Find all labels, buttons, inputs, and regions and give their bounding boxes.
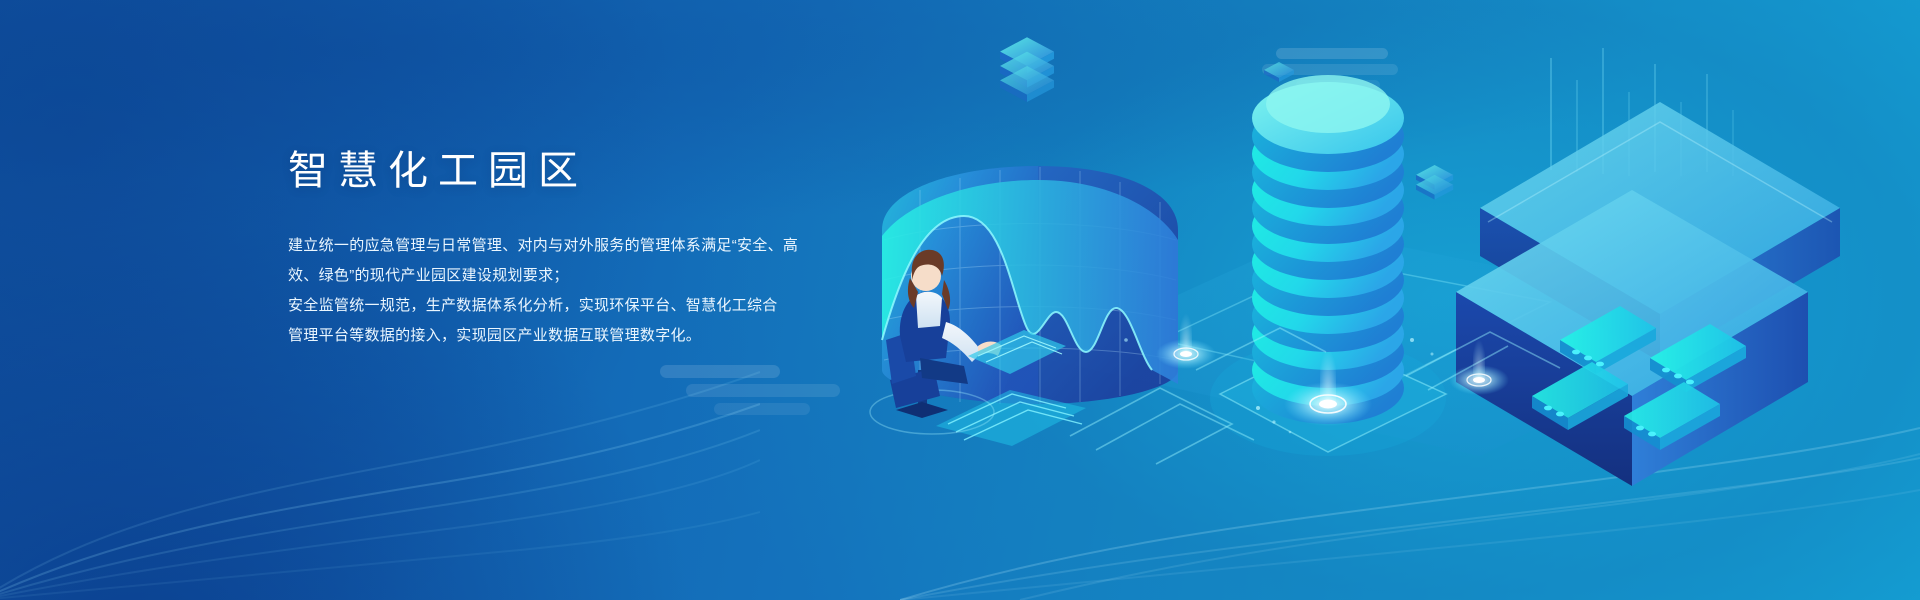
description-line-1: 建立统一的应急管理与日常管理、对内与对外服务的管理体系满足“安全、高 (288, 231, 888, 261)
banner-description: 建立统一的应急管理与日常管理、对内与对外服务的管理体系满足“安全、高 效、绿色”… (288, 231, 888, 351)
hexagon-stack-upper (1000, 37, 1054, 102)
description-line-3: 安全监管统一规范，生产数据体系化分析，实现环保平台、智慧化工综合 (288, 291, 888, 321)
banner-copy: 智慧化工园区 建立统一的应急管理与日常管理、对内与对外服务的管理体系满足“安全、… (288, 148, 888, 351)
hexagon-stack-lower (1416, 165, 1453, 200)
cloud-ribbon-left (660, 365, 840, 417)
description-line-4: 管理平台等数据的接入，实现园区产业数据互联管理数字化。 (288, 321, 888, 351)
isometric-illustration (860, 40, 1920, 480)
hexagon-stack-small (1264, 62, 1294, 82)
page-title: 智慧化工园区 (288, 148, 888, 195)
description-line-2: 效、绿色”的现代产业园区建设规划要求； (288, 261, 888, 291)
hero-banner: 智慧化工园区 建立统一的应急管理与日常管理、对内与对外服务的管理体系满足“安全、… (0, 0, 1920, 600)
